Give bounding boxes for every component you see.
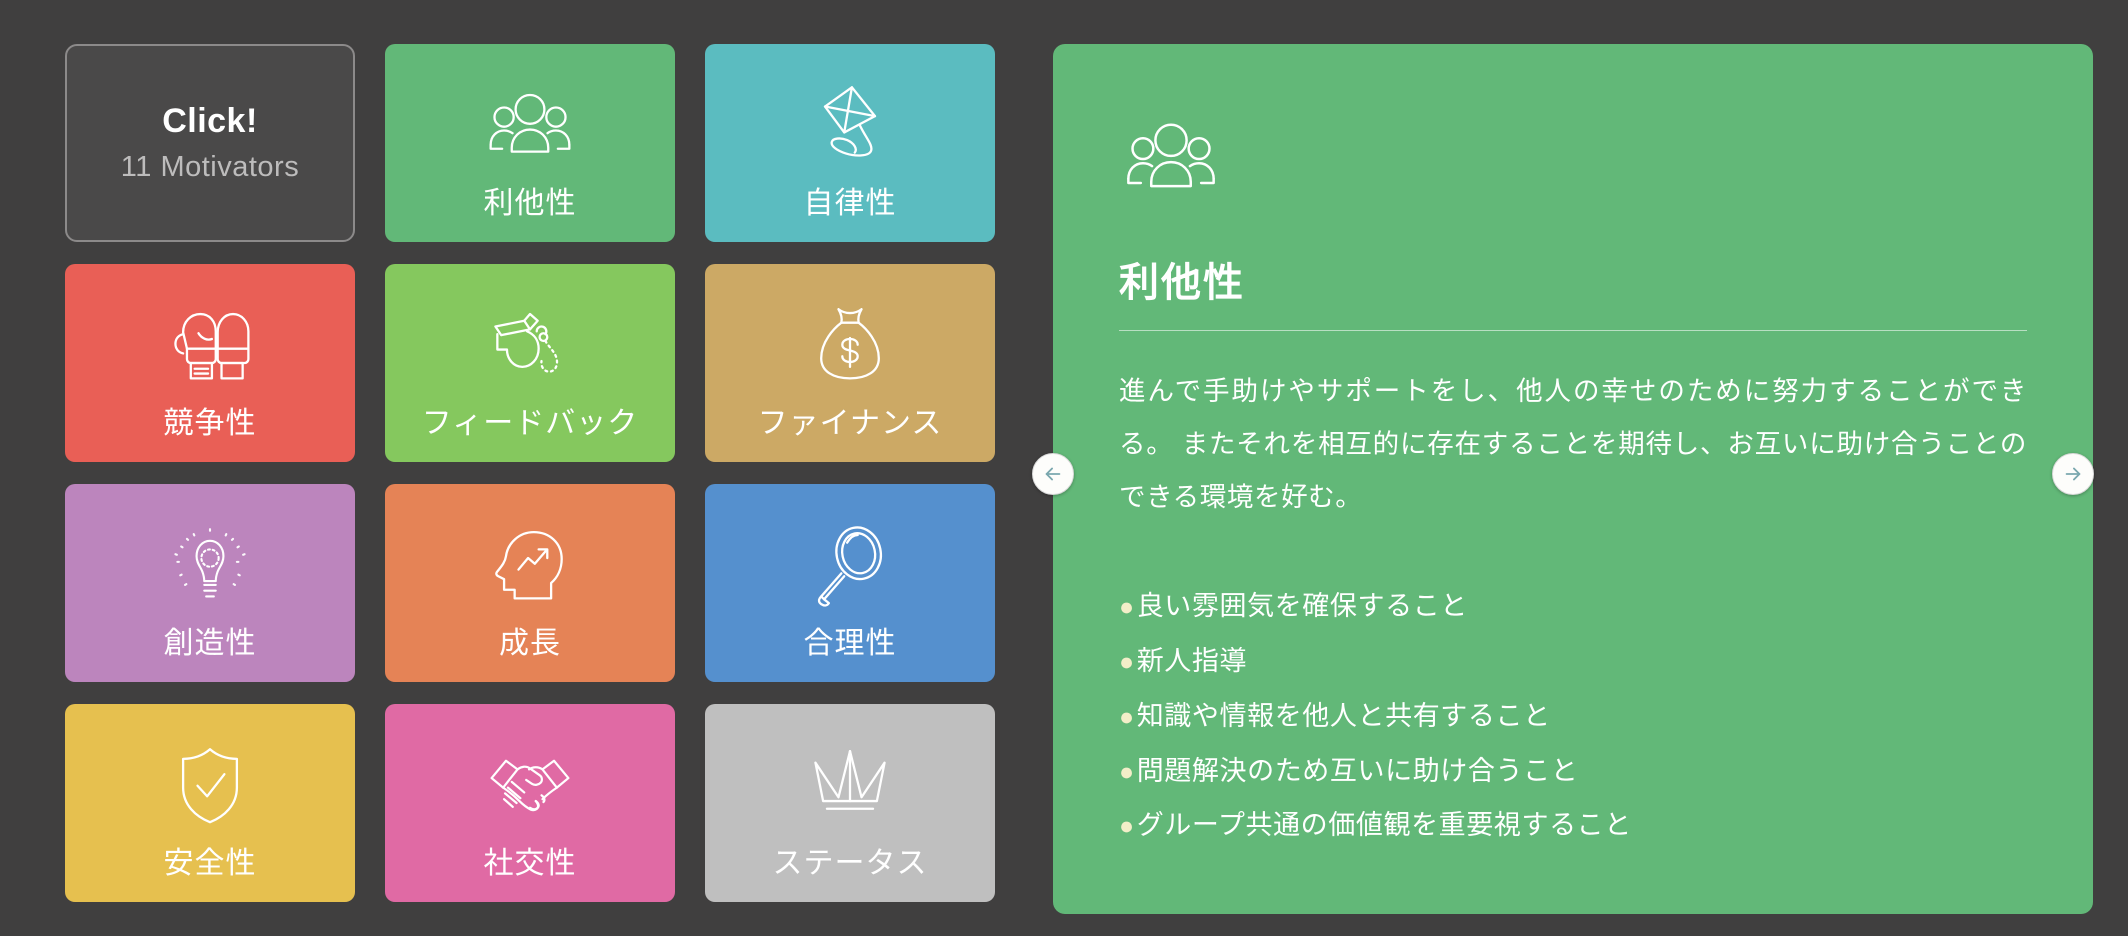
bullet-dot: ● [1119, 807, 1135, 846]
kite-icon [802, 78, 898, 174]
tile-autonomy[interactable]: 自律性 [705, 44, 995, 242]
tile-label: フィードバック [422, 406, 638, 442]
tile-label: ステータス [773, 846, 928, 882]
motivator-grid: Click! 11 Motivators 利他性 [65, 44, 995, 902]
arrow-right-icon [2062, 463, 2084, 485]
boxing-gloves-icon [162, 298, 258, 394]
tile-label: ファイナンス [758, 406, 943, 442]
money-bag-icon [802, 298, 898, 394]
click-card-subtitle: 11 Motivators [121, 151, 299, 184]
tile-finance[interactable]: ファイナンス [705, 264, 995, 462]
crown-icon [802, 738, 898, 834]
tile-feedback[interactable]: フィードバック [385, 264, 675, 462]
detail-panel: 利他性 進んで手助けやサポートをし、他人の幸せのために努力することができる。 ま… [1053, 44, 2093, 914]
bullet-dot: ● [1119, 753, 1135, 792]
list-item: ● グループ共通の価値観を重要視すること [1119, 805, 2027, 847]
detail-divider [1119, 330, 2027, 331]
tile-safety[interactable]: 安全性 [65, 704, 355, 902]
list-item-label: 良い雰囲気を確保すること [1137, 586, 1468, 628]
list-item-label: グループ共通の価値観を重要視すること [1137, 805, 1632, 847]
tile-label: 自律性 [804, 186, 897, 222]
bullet-dot: ● [1119, 698, 1135, 737]
arrow-left-icon [1042, 463, 1064, 485]
tile-label: 合理性 [804, 626, 897, 662]
motivators-app: Click! 11 Motivators 利他性 [0, 0, 2128, 936]
shield-check-icon [162, 738, 258, 834]
head-growth-icon [482, 518, 578, 614]
tile-altruism[interactable]: 利他性 [385, 44, 675, 242]
tile-sociability[interactable]: 社交性 [385, 704, 675, 902]
tile-creativity[interactable]: 創造性 [65, 484, 355, 682]
tile-competition[interactable]: 競争性 [65, 264, 355, 462]
detail-bullet-list: ● 良い雰囲気を確保すること ● 新人指導 ● 知識や情報を他人と共有すること … [1119, 586, 2027, 847]
whistle-icon [482, 298, 578, 394]
list-item: ● 新人指導 [1119, 641, 2027, 683]
bullet-dot: ● [1119, 588, 1135, 627]
magnifier-icon [802, 518, 898, 614]
tile-growth[interactable]: 成長 [385, 484, 675, 682]
next-button[interactable] [2052, 453, 2094, 495]
detail-title: 利他性 [1119, 250, 2027, 330]
lightbulb-icon [162, 518, 258, 614]
tile-label: 創造性 [164, 626, 257, 662]
handshake-icon [482, 738, 578, 834]
click-card[interactable]: Click! 11 Motivators [65, 44, 355, 242]
click-card-title: Click! [162, 102, 258, 141]
list-item: ● 知識や情報を他人と共有すること [1119, 696, 2027, 738]
list-item: ● 良い雰囲気を確保すること [1119, 586, 2027, 628]
bullet-dot: ● [1119, 643, 1135, 682]
list-item-label: 知識や情報を他人と共有すること [1137, 696, 1551, 738]
tile-label: 利他性 [484, 186, 577, 222]
list-item-label: 問題解決のため互いに助け合うこと [1137, 751, 1579, 793]
people-icon [1119, 106, 1223, 210]
tile-label: 競争性 [164, 406, 257, 442]
people-icon [482, 78, 578, 174]
tile-label: 成長 [499, 626, 561, 662]
tile-status[interactable]: ステータス [705, 704, 995, 902]
prev-button[interactable] [1032, 453, 1074, 495]
list-item-label: 新人指導 [1137, 641, 1247, 683]
tile-rationality[interactable]: 合理性 [705, 484, 995, 682]
detail-description: 進んで手助けやサポートをし、他人の幸せのために努力することができる。 またそれを… [1119, 365, 2027, 524]
tile-label: 安全性 [164, 846, 257, 882]
tile-label: 社交性 [484, 846, 577, 882]
list-item: ● 問題解決のため互いに助け合うこと [1119, 751, 2027, 793]
